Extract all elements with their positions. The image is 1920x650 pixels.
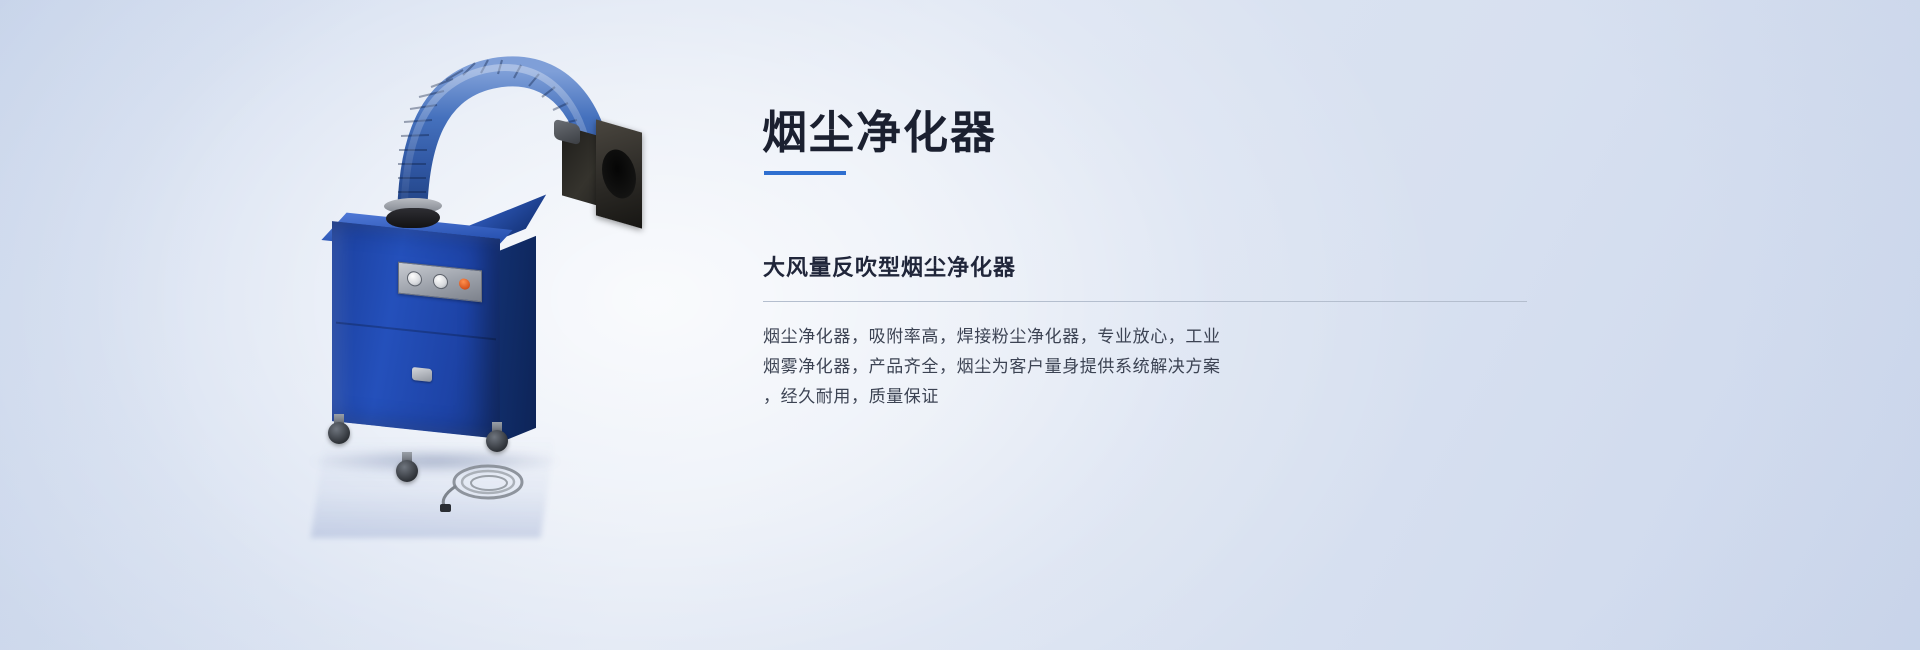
meter-gauge-icon: [433, 273, 448, 290]
content-divider: [763, 301, 1527, 302]
product-description: 烟尘净化器，吸附率高，焊接粉尘净化器，专业放心，工业 烟雾净化器，产品齐全，烟尘…: [763, 322, 1543, 412]
power-cable: [432, 446, 552, 516]
pressure-gauge-icon: [407, 271, 422, 288]
cabinet-latch: [412, 367, 432, 382]
banner-content: 烟尘净化器 大风量反吹型烟尘净化器 烟尘净化器，吸附率高，焊接粉尘净化器，专业放…: [762, 0, 1562, 650]
page-title: 烟尘净化器: [762, 108, 997, 158]
description-line: ，经久耐用，质量保证: [763, 382, 1543, 412]
cabinet-side-face: [496, 236, 536, 444]
caster-wheel: [396, 460, 418, 482]
description-line: 烟尘净化器，吸附率高，焊接粉尘净化器，专业放心，工业: [763, 322, 1543, 352]
power-knob-icon: [459, 278, 470, 290]
suction-hood-grip: [554, 119, 580, 145]
description-line: 烟雾净化器，产品齐全，烟尘为客户量身提供系统解决方案: [763, 352, 1543, 382]
caster-wheel: [328, 422, 350, 444]
product-image: [300, 30, 720, 550]
product-subtitle: 大风量反吹型烟尘净化器: [763, 250, 1016, 282]
inlet-collar: [385, 208, 441, 228]
title-accent-bar: [764, 171, 846, 175]
product-banner: 烟尘净化器 大风量反吹型烟尘净化器 烟尘净化器，吸附率高，焊接粉尘净化器，专业放…: [0, 0, 1920, 650]
